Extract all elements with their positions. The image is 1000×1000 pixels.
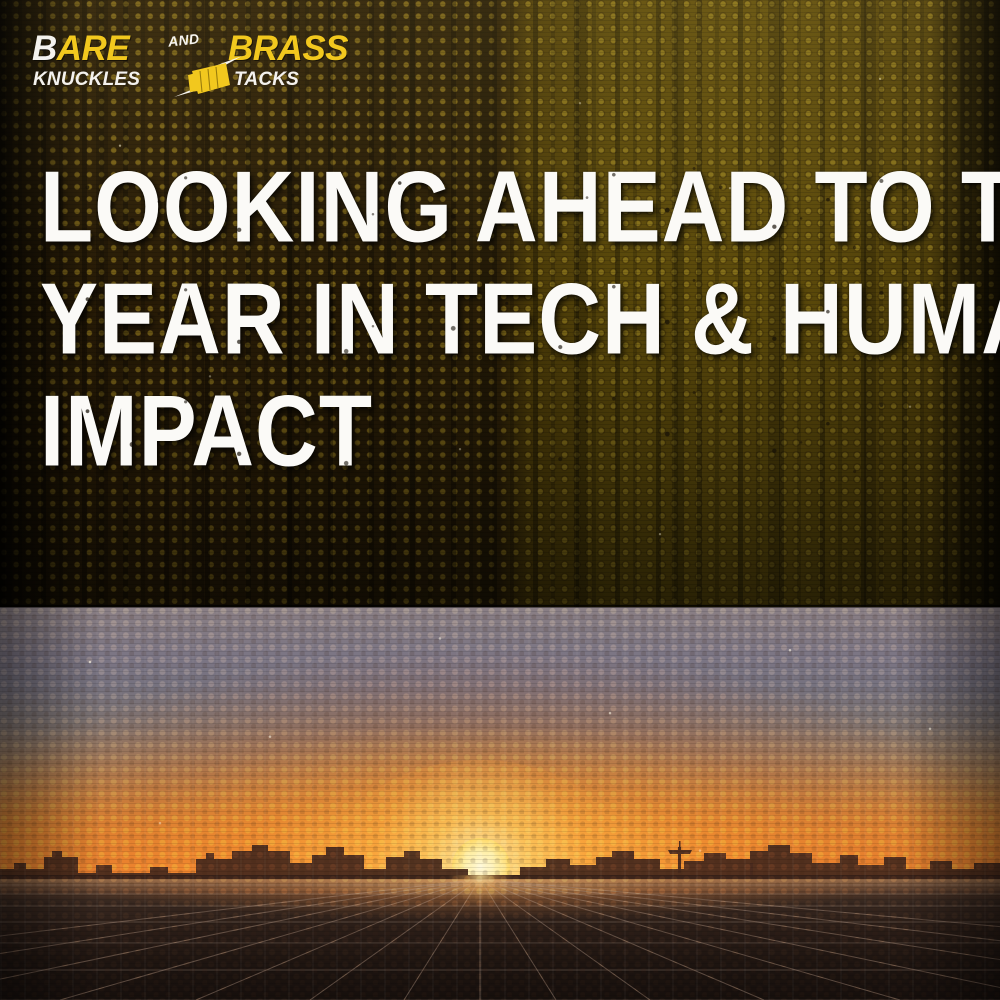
logo-bare-b-letter: B <box>32 31 57 66</box>
brand-logo[interactable]: B ARE AND BRASS KNUCKLES TACKS <box>32 31 352 101</box>
sunset-photo-panel <box>0 607 1000 1000</box>
headline-line-2-text: YEAR IN TECH & HUMAN <box>40 255 1000 385</box>
panel-divider <box>0 605 1000 608</box>
logo-knuckles-text: KNUCKLES <box>33 70 140 89</box>
logo-brass-text: BRASS <box>228 31 348 66</box>
headline-line-1: LOOKING AHEAD TO THE NEXT <box>40 152 920 264</box>
logo-bare-word: B ARE <box>32 31 129 66</box>
headline-line-1-text: LOOKING AHEAD TO THE NEXT <box>40 143 1000 273</box>
logo-and-text: AND <box>167 31 200 48</box>
headline-line-3: IMPACT <box>40 376 920 488</box>
fist-icon <box>172 53 244 101</box>
poster-canvas: B ARE AND BRASS KNUCKLES TACKS LOOKING A… <box>0 0 1000 1000</box>
headline-line-3-text: IMPACT <box>40 367 373 497</box>
logo-bare-are-text: ARE <box>57 31 129 66</box>
headline-line-2: YEAR IN TECH & HUMAN <box>40 264 920 376</box>
headline-block: LOOKING AHEAD TO THE NEXT YEAR IN TECH &… <box>40 152 920 488</box>
photo-speckle-overlay <box>0 607 1000 1000</box>
